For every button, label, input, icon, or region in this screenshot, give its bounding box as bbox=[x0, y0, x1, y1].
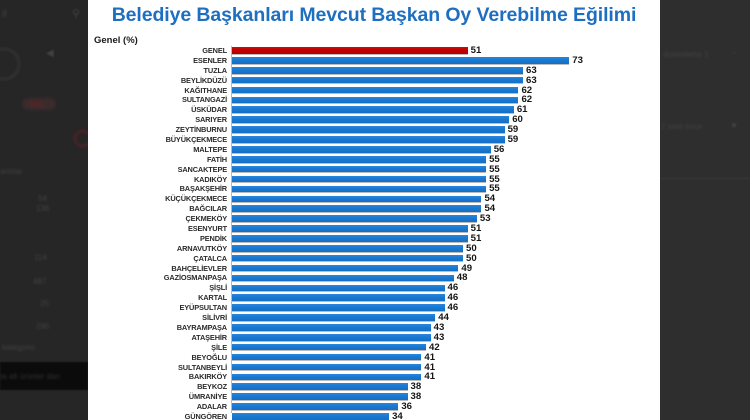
backdrop-value-6: 290 bbox=[36, 322, 49, 331]
bar bbox=[232, 146, 491, 154]
bar-category-label: SANCAKTEPE bbox=[88, 165, 232, 175]
bar bbox=[232, 393, 408, 401]
bar bbox=[232, 235, 468, 243]
backdrop-value-1: 54 bbox=[38, 194, 47, 203]
bar bbox=[232, 116, 509, 124]
bar-category-label: ÜSKÜDAR bbox=[88, 105, 232, 115]
bar bbox=[232, 403, 398, 411]
bar-track: 51 bbox=[232, 46, 660, 56]
bar-category-label: BAHÇELİEVLER bbox=[88, 264, 232, 274]
chart-unit-label: Genel (%) bbox=[94, 35, 138, 46]
bar-rows-container: GENEL51ESENLER73TUZLA63BEYLİKDÜZÜ63KAĞIT… bbox=[88, 46, 660, 420]
bar-category-label: BEYKOZ bbox=[88, 382, 232, 392]
bar-track: 53 bbox=[232, 214, 660, 224]
bar-row: KÜÇÜKÇEKMECE54 bbox=[88, 194, 660, 204]
bar-category-label: GAZİOSMANPAŞA bbox=[88, 273, 232, 283]
bar-category-label: ATAŞEHİR bbox=[88, 333, 232, 343]
bar bbox=[232, 166, 486, 174]
bar-row: BAŞAKŞEHİR55 bbox=[88, 184, 660, 194]
bar-row: ÇATALCA50 bbox=[88, 254, 660, 264]
bar-row: SANCAKTEPE55 bbox=[88, 165, 660, 175]
bar bbox=[232, 413, 389, 420]
bar-row: BEYOĞLU41 bbox=[88, 353, 660, 363]
bar-track: 62 bbox=[232, 86, 660, 96]
bar bbox=[232, 215, 477, 223]
bar-value-label: 41 bbox=[424, 372, 435, 382]
bar-track: 50 bbox=[232, 254, 660, 264]
bar bbox=[232, 106, 514, 114]
bar-track: 46 bbox=[232, 293, 660, 303]
backdrop-text-title: il bbox=[2, 8, 7, 20]
bar-category-label: ADALAR bbox=[88, 402, 232, 412]
chevron-left-icon: ◀ bbox=[46, 48, 54, 59]
bar-row: ARNAVUTKÖY50 bbox=[88, 244, 660, 254]
bar bbox=[232, 344, 426, 352]
bar bbox=[232, 364, 421, 372]
bar bbox=[232, 285, 445, 293]
bar bbox=[232, 196, 481, 204]
bar-track: 61 bbox=[232, 105, 660, 115]
bar-track: 41 bbox=[232, 363, 660, 373]
bar-value-label: 59 bbox=[508, 135, 519, 145]
bar-track: 51 bbox=[232, 234, 660, 244]
bar bbox=[232, 136, 505, 144]
bar bbox=[232, 314, 435, 322]
bar-value-label: 34 bbox=[392, 412, 403, 420]
backdrop-text-category: kategorio bbox=[2, 343, 35, 352]
bar-category-label: BAŞAKŞEHİR bbox=[88, 184, 232, 194]
bar-track: 54 bbox=[232, 204, 660, 214]
bar-row: ÇEKMEKÖY53 bbox=[88, 214, 660, 224]
bar bbox=[232, 77, 523, 85]
backdrop-value-5: 25 bbox=[40, 299, 49, 308]
bar-category-label: TUZLA bbox=[88, 66, 232, 76]
bar-track: 43 bbox=[232, 333, 660, 343]
bar-track: 43 bbox=[232, 323, 660, 333]
bar-category-label: ESENLER bbox=[88, 56, 232, 66]
bar-row: FATİH55 bbox=[88, 155, 660, 165]
bar bbox=[232, 354, 421, 362]
bar-track: 73 bbox=[232, 56, 660, 66]
bar-row: BEYLİKDÜZÜ63 bbox=[88, 76, 660, 86]
bar-row: TUZLA63 bbox=[88, 66, 660, 76]
bar bbox=[232, 67, 523, 75]
bar-category-label: BAKIRKÖY bbox=[88, 372, 232, 382]
bar-value-label: 53 bbox=[480, 214, 491, 224]
bar-chart-plot: GENEL51ESENLER73TUZLA63BEYLİKDÜZÜ63KAĞIT… bbox=[88, 46, 660, 418]
bar-row: MALTEPE56 bbox=[88, 145, 660, 155]
bar-row: ŞİLE42 bbox=[88, 343, 660, 353]
backdrop-badge-value: 663 bbox=[30, 100, 43, 109]
bar bbox=[232, 265, 458, 273]
bar-row: BEYKOZ38 bbox=[88, 382, 660, 392]
bar-row: KAĞITHANE62 bbox=[88, 86, 660, 96]
backdrop-edit-label: düzenleme 1 bbox=[663, 50, 709, 59]
bar bbox=[232, 97, 518, 105]
bar-category-label: KÜÇÜKÇEKMECE bbox=[88, 194, 232, 204]
bar-row: ÜMRANİYE38 bbox=[88, 392, 660, 402]
bar-category-label: ŞİŞLİ bbox=[88, 283, 232, 293]
bar-value-label: 48 bbox=[457, 273, 468, 283]
bar-track: 46 bbox=[232, 283, 660, 293]
bar-track: 38 bbox=[232, 382, 660, 392]
bar-track: 55 bbox=[232, 165, 660, 175]
bar-track: 48 bbox=[232, 273, 660, 283]
bar-row: BAHÇELİEVLER49 bbox=[88, 264, 660, 274]
bar-row: ZEYTİNBURNU59 bbox=[88, 125, 660, 135]
bar-row: ŞİŞLİ46 bbox=[88, 283, 660, 293]
bar bbox=[232, 334, 431, 342]
bar-category-label: ZEYTİNBURNU bbox=[88, 125, 232, 135]
bar-row: ADALAR36 bbox=[88, 402, 660, 412]
bar-track: 54 bbox=[232, 194, 660, 204]
bar-category-label: EYÜPSULTAN bbox=[88, 303, 232, 313]
bar-track: 55 bbox=[232, 175, 660, 185]
bar-category-label: KARTAL bbox=[88, 293, 232, 303]
bar-row: KADIKÖY55 bbox=[88, 175, 660, 185]
bar-category-label: FATİH bbox=[88, 155, 232, 165]
bar bbox=[232, 255, 463, 263]
bar-track: 42 bbox=[232, 343, 660, 353]
bar-category-label: PENDİK bbox=[88, 234, 232, 244]
bar-category-label: GENEL bbox=[88, 46, 232, 56]
bar-category-label: ESENYURT bbox=[88, 224, 232, 234]
bar-row: PENDİK51 bbox=[88, 234, 660, 244]
bar-row: GAZİOSMANPAŞA48 bbox=[88, 273, 660, 283]
bar-row: BAKIRKÖY41 bbox=[88, 372, 660, 382]
backdrop-text-list-header: arıtılar bbox=[0, 167, 23, 176]
bar-row: ESENYURT51 bbox=[88, 224, 660, 234]
bar-category-label: ÇEKMEKÖY bbox=[88, 214, 232, 224]
backdrop-value-2: 136 bbox=[36, 204, 49, 213]
bar bbox=[232, 186, 486, 194]
bar-track: 59 bbox=[232, 135, 660, 145]
bar-track: 36 bbox=[232, 402, 660, 412]
bar-category-label: GÜNGÖREN bbox=[88, 412, 232, 420]
bar bbox=[232, 176, 486, 184]
bar bbox=[232, 126, 505, 134]
bar-track: 51 bbox=[232, 224, 660, 234]
chart-panel: Belediye Başkanları Mevcut Başkan Oy Ver… bbox=[88, 0, 660, 420]
bar-track: 63 bbox=[232, 76, 660, 86]
chevron-right-icon: › bbox=[733, 48, 736, 57]
bar-row: SARIYER60 bbox=[88, 115, 660, 125]
bar-track: 56 bbox=[232, 145, 660, 155]
bar bbox=[232, 304, 445, 312]
bar-category-label: MALTEPE bbox=[88, 145, 232, 155]
bar-category-label: SULTANBEYLİ bbox=[88, 363, 232, 373]
bar-category-label: SARIYER bbox=[88, 115, 232, 125]
bar-row: SULTANGAZİ62 bbox=[88, 95, 660, 105]
backdrop-value-4: 487 bbox=[33, 277, 46, 286]
bar-category-label: ŞİLE bbox=[88, 343, 232, 353]
backdrop-right-column bbox=[660, 0, 750, 420]
bar bbox=[232, 245, 463, 253]
backdrop-value-3: 114 bbox=[34, 253, 47, 262]
bar-category-label: KADIKÖY bbox=[88, 175, 232, 185]
bar bbox=[232, 156, 486, 164]
bar bbox=[232, 205, 481, 213]
bar-row: ESENLER73 bbox=[88, 56, 660, 66]
bar-row: BÜYÜKÇEKMECE59 bbox=[88, 135, 660, 145]
bar-row: SULTANBEYLİ41 bbox=[88, 363, 660, 373]
bar-highlight bbox=[232, 47, 468, 55]
bar-category-label: BEYLİKDÜZÜ bbox=[88, 76, 232, 86]
bar-category-label: BÜYÜKÇEKMECE bbox=[88, 135, 232, 145]
bar-row: KARTAL46 bbox=[88, 293, 660, 303]
bar-category-label: BEYOĞLU bbox=[88, 353, 232, 363]
star-icon: ★ bbox=[730, 120, 738, 131]
bar-category-label: SİLİVRİ bbox=[88, 313, 232, 323]
bar-row: BAYRAMPAŞA43 bbox=[88, 323, 660, 333]
bar-value-label: 51 bbox=[471, 46, 482, 56]
bar-category-label: ÇATALCA bbox=[88, 254, 232, 264]
bar-value-label: 38 bbox=[411, 392, 422, 402]
bar-track: 55 bbox=[232, 184, 660, 194]
bar-track: 63 bbox=[232, 66, 660, 76]
bar-track: 38 bbox=[232, 392, 660, 402]
backdrop-footer-text: ta alt ürünler dan bbox=[0, 372, 60, 381]
bar-category-label: BAĞCILAR bbox=[88, 204, 232, 214]
bar bbox=[232, 383, 408, 391]
bar-value-label: 46 bbox=[448, 303, 459, 313]
bar-value-label: 73 bbox=[572, 56, 583, 66]
bar-category-label: ÜMRANİYE bbox=[88, 392, 232, 402]
bar-row: ATAŞEHİR43 bbox=[88, 333, 660, 343]
bar-track: 41 bbox=[232, 372, 660, 382]
bar-category-label: BAYRAMPAŞA bbox=[88, 323, 232, 333]
bar-row: EYÜPSULTAN46 bbox=[88, 303, 660, 313]
bar-category-label: ARNAVUTKÖY bbox=[88, 244, 232, 254]
bar-category-label: KAĞITHANE bbox=[88, 86, 232, 96]
bar bbox=[232, 324, 431, 332]
bar-track: 55 bbox=[232, 155, 660, 165]
bar-track: 41 bbox=[232, 353, 660, 363]
bar-row: ÜSKÜDAR61 bbox=[88, 105, 660, 115]
bar bbox=[232, 294, 445, 302]
bar-track: 34 bbox=[232, 412, 660, 420]
bar-track: 44 bbox=[232, 313, 660, 323]
bar bbox=[232, 225, 468, 233]
backdrop-divider bbox=[660, 178, 750, 179]
search-icon: ⚲ bbox=[72, 7, 80, 20]
bar bbox=[232, 87, 518, 95]
backdrop-timestamp: 2 saat önce bbox=[661, 122, 702, 131]
bar-category-label: SULTANGAZİ bbox=[88, 95, 232, 105]
bar bbox=[232, 374, 421, 382]
bar-track: 62 bbox=[232, 95, 660, 105]
bar-track: 60 bbox=[232, 115, 660, 125]
bar-row: BAĞCILAR54 bbox=[88, 204, 660, 214]
bar-track: 59 bbox=[232, 125, 660, 135]
bar-row: SİLİVRİ44 bbox=[88, 313, 660, 323]
bar-track: 49 bbox=[232, 264, 660, 274]
bar bbox=[232, 275, 454, 283]
bar-row: GÜNGÖREN34 bbox=[88, 412, 660, 420]
bar bbox=[232, 57, 569, 65]
page-title: Belediye Başkanları Mevcut Başkan Oy Ver… bbox=[88, 4, 660, 27]
bar-track: 50 bbox=[232, 244, 660, 254]
